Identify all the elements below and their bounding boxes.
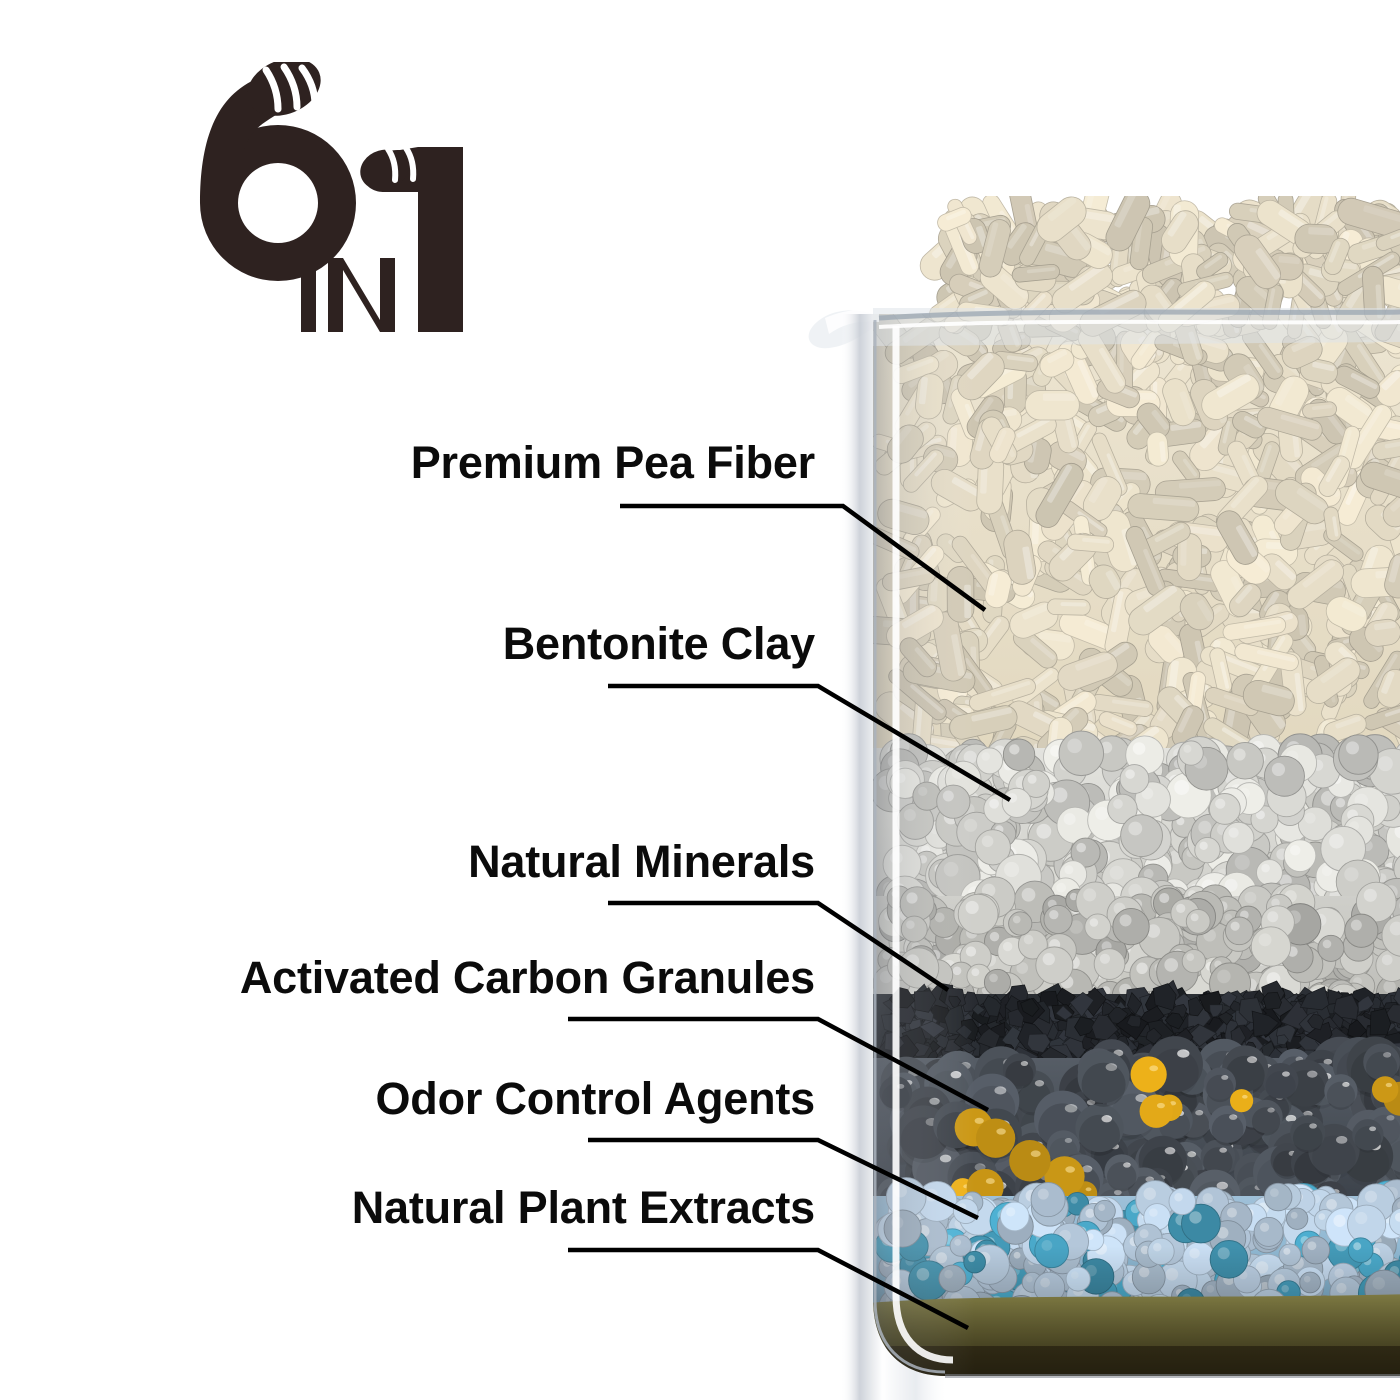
callout-label-odor-control: Odor Control Agents [376,1073,816,1125]
callout-label-pea-fiber: Premium Pea Fiber [411,437,815,489]
callout-label-minerals: Natural Minerals [468,836,815,888]
in-text [301,258,395,332]
callout-label-bentonite: Bentonite Clay [503,618,815,670]
six-in-one-badge [88,62,508,352]
callout-label-plant-extracts: Natural Plant Extracts [352,1182,815,1234]
six-in-one-logo-icon [88,62,508,352]
product-jar [795,196,1400,1400]
callout-label-carbon: Activated Carbon Granules [240,952,815,1004]
infographic-canvas: Premium Pea Fiber Bentonite Clay Natural… [0,0,1400,1400]
beaker-illustration [795,196,1400,1400]
